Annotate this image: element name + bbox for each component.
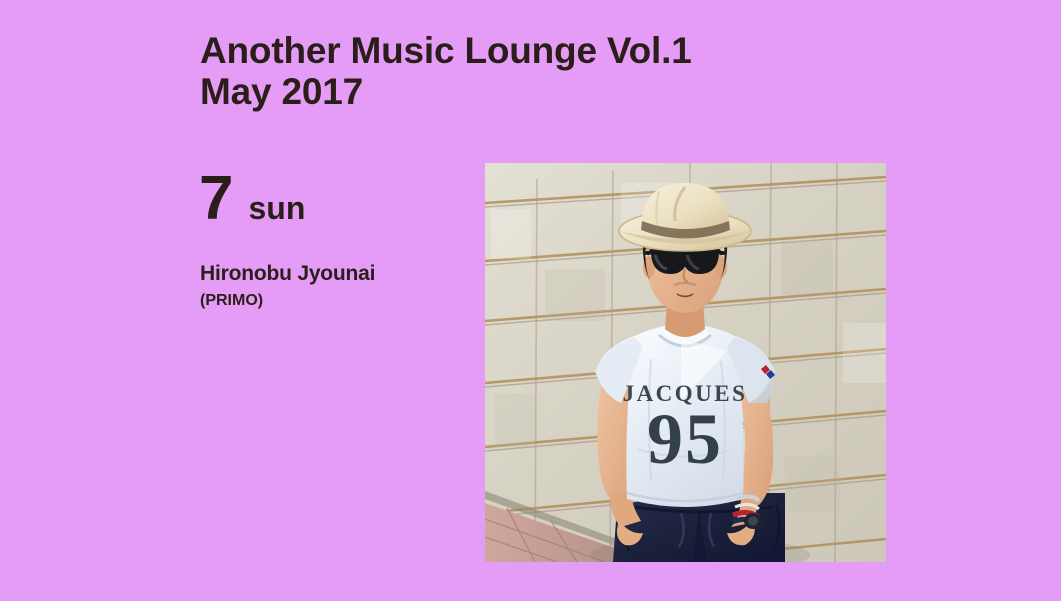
artist-affiliation: (PRIMO)	[200, 291, 263, 311]
date-day-number: 7	[199, 168, 232, 230]
headline-line-2: May 2017	[200, 71, 692, 112]
artist-name: Hironobu Jyounai	[200, 262, 375, 286]
headline-line-1: Another Music Lounge Vol.1	[200, 30, 692, 71]
artist-photo-illustration: JACQUES 95	[485, 163, 886, 562]
date-day-of-week: sun	[248, 192, 305, 224]
event-date: 7 sun	[199, 168, 305, 230]
svg-text:95: 95	[647, 399, 723, 479]
page-title: Another Music Lounge Vol.1 May 2017	[200, 30, 692, 112]
artist-photo: JACQUES 95	[485, 163, 886, 562]
poster-canvas: Another Music Lounge Vol.1 May 2017 7 su…	[0, 0, 1061, 601]
